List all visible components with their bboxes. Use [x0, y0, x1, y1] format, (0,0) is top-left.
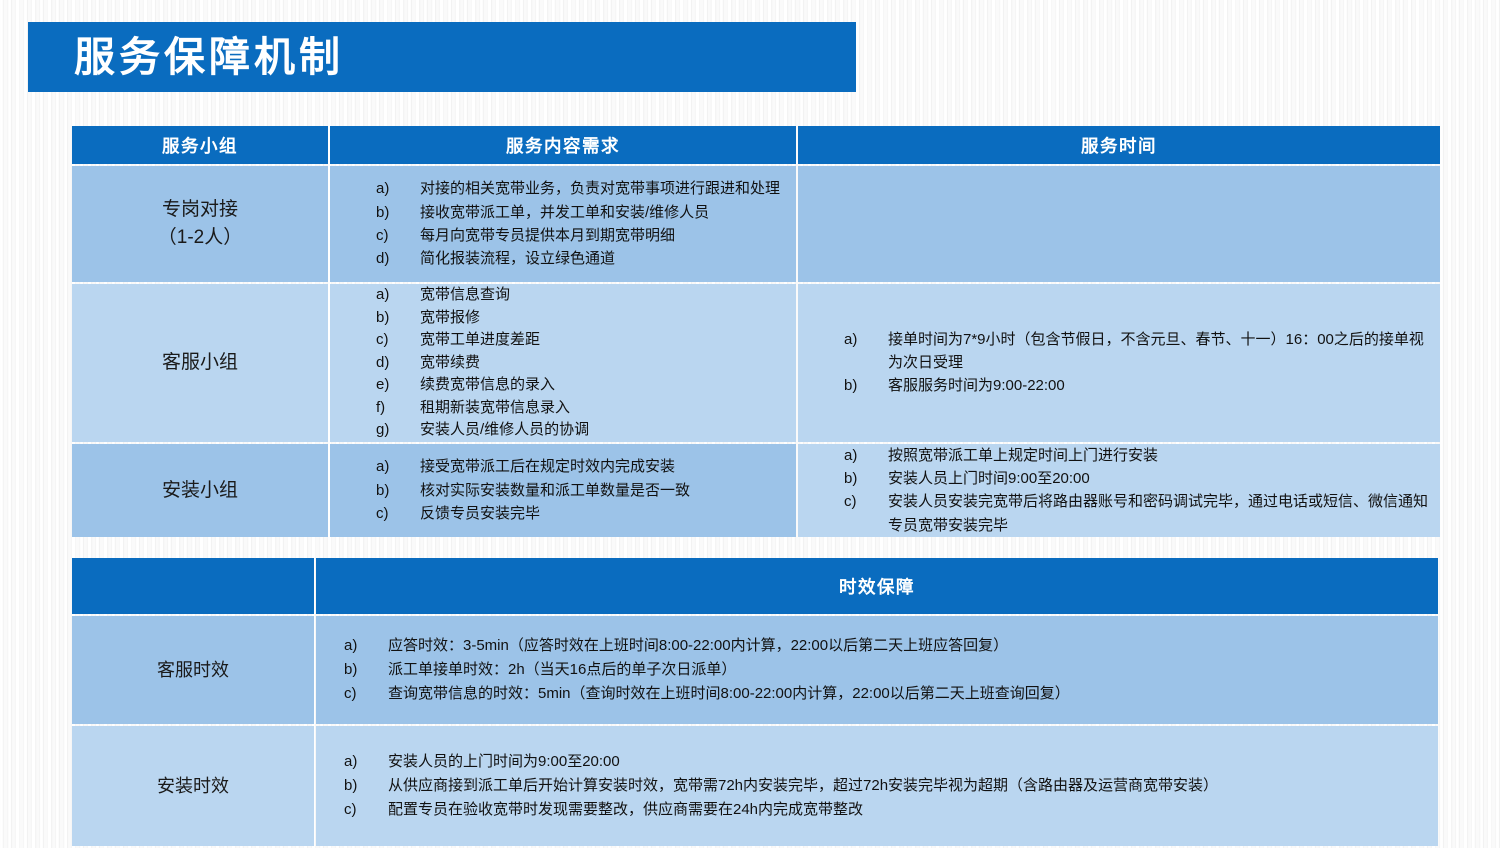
row-time-cell [798, 166, 1440, 282]
list-item: 宽带报修 [376, 307, 786, 330]
slide-root: 服务保障机制 服务小组 服务内容需求 服务时间 专岗对接 （1-2人） 对接的相… [0, 0, 1500, 844]
service-requirements-table: 服务小组 服务内容需求 服务时间 专岗对接 （1-2人） 对接的相关宽带业务，负… [70, 124, 1442, 539]
row-content-cell: 宽带信息查询 宽带报修 宽带工单进度差距 宽带续费 续费宽带信息的录入 租期新装… [330, 284, 796, 442]
list-item: 接受宽带派工后在规定时效内完成安装 [376, 455, 786, 478]
row-content-cell: 接受宽带派工后在规定时效内完成安装 核对实际安装数量和派工单数量是否一致 反馈专… [330, 444, 796, 538]
sla-list: 应答时效：3-5min（应答时效在上班时间8:00-22:00内计算，22:00… [316, 634, 1438, 707]
column-header-content: 服务内容需求 [330, 126, 796, 164]
row-time-cell: 按照宽带派工单上规定时间上门进行安装 安装人员上门时间9:00至20:00 安装… [798, 444, 1440, 538]
table-header-row: 时效保障 [72, 558, 1438, 614]
list-item: 客服服务时间为9:00-22:00 [844, 374, 1430, 397]
list-item: 简化报装流程，设立绿色通道 [376, 247, 786, 270]
row-content-cell: 安装人员的上门时间为9:00至20:00 从供应商接到派工单后开始计算安装时效，… [316, 726, 1438, 846]
table-row: 安装小组 接受宽带派工后在规定时效内完成安装 核对实际安装数量和派工单数量是否一… [72, 444, 1440, 538]
list-item: 每月向宽带专员提供本月到期宽带明细 [376, 224, 786, 247]
row-time-cell: 接单时间为7*9小时（包含节假日，不含元旦、春节、十一）16：00之后的接单视为… [798, 284, 1440, 442]
table-row: 专岗对接 （1-2人） 对接的相关宽带业务，负责对宽带事项进行跟进和处理 接收宽… [72, 166, 1440, 282]
list-item: 应答时效：3-5min（应答时效在上班时间8:00-22:00内计算，22:00… [344, 634, 1428, 658]
row-group-name: 安装小组 [72, 444, 328, 538]
list-item: 宽带续费 [376, 352, 786, 375]
table-row: 安装时效 安装人员的上门时间为9:00至20:00 从供应商接到派工单后开始计算… [72, 726, 1438, 846]
group-name-line2: （1-2人） [72, 224, 328, 252]
list-item: 安装人员的上门时间为9:00至20:00 [344, 750, 1428, 774]
row-group-name: 安装时效 [72, 726, 314, 846]
list-item: 宽带信息查询 [376, 284, 786, 307]
list-item: 查询宽带信息的时效：5min（查询时效在上班时间8:00-22:00内计算，22… [344, 682, 1428, 706]
row-content-cell: 对接的相关宽带业务，负责对宽带事项进行跟进和处理 接收宽带派工单，并发工单和安装… [330, 166, 796, 282]
slide-title-bar: 服务保障机制 [28, 22, 856, 92]
list-item: 租期新装宽带信息录入 [376, 397, 786, 420]
list-item: 对接的相关宽带业务，负责对宽带事项进行跟进和处理 [376, 177, 786, 200]
time-list: 接单时间为7*9小时（包含节假日，不含元旦、春节、十一）16：00之后的接单视为… [798, 328, 1440, 398]
row-group-name: 专岗对接 （1-2人） [72, 166, 328, 282]
content-list: 对接的相关宽带业务，负责对宽带事项进行跟进和处理 接收宽带派工单，并发工单和安装… [330, 177, 796, 271]
list-item: 安装人员上门时间9:00至20:00 [844, 467, 1430, 490]
list-item: 接收宽带派工单，并发工单和安装/维修人员 [376, 201, 786, 224]
column-header-sla: 时效保障 [316, 558, 1438, 614]
row-group-name: 客服时效 [72, 616, 314, 724]
list-item: 安装人员/维修人员的协调 [376, 419, 786, 442]
list-item: 配置专员在验收宽带时发现需要整改，供应商需要在24h内完成宽带整改 [344, 798, 1428, 822]
row-group-name: 客服小组 [72, 284, 328, 442]
list-item: 从供应商接到派工单后开始计算安装时效，宽带需72h内安装完毕，超过72h安装完毕… [344, 774, 1428, 798]
list-item: 反馈专员安装完毕 [376, 502, 786, 525]
column-header-time: 服务时间 [798, 126, 1440, 164]
list-item: 续费宽带信息的录入 [376, 374, 786, 397]
sla-list: 安装人员的上门时间为9:00至20:00 从供应商接到派工单后开始计算安装时效，… [316, 750, 1438, 823]
list-item: 宽带工单进度差距 [376, 329, 786, 352]
list-item: 安装人员安装完宽带后将路由器账号和密码调试完毕，通过电话或短信、微信通知专员宽带… [844, 490, 1430, 537]
row-content-cell: 应答时效：3-5min（应答时效在上班时间8:00-22:00内计算，22:00… [316, 616, 1438, 724]
time-list: 按照宽带派工单上规定时间上门进行安装 安装人员上门时间9:00至20:00 安装… [798, 444, 1440, 538]
content-list: 宽带信息查询 宽带报修 宽带工单进度差距 宽带续费 续费宽带信息的录入 租期新装… [330, 284, 796, 442]
list-item: 核对实际安装数量和派工单数量是否一致 [376, 479, 786, 502]
list-item: 派工单接单时效：2h（当天16点后的单子次日派单） [344, 658, 1428, 682]
list-item: 接单时间为7*9小时（包含节假日，不含元旦、春节、十一）16：00之后的接单视为… [844, 328, 1430, 375]
sla-table: 时效保障 客服时效 应答时效：3-5min（应答时效在上班时间8:00-22:0… [70, 556, 1440, 848]
list-item: 按照宽带派工单上规定时间上门进行安装 [844, 444, 1430, 467]
column-header-blank [72, 558, 314, 614]
table-row: 客服时效 应答时效：3-5min（应答时效在上班时间8:00-22:00内计算，… [72, 616, 1438, 724]
column-header-group: 服务小组 [72, 126, 328, 164]
content-list: 接受宽带派工后在规定时效内完成安装 核对实际安装数量和派工单数量是否一致 反馈专… [330, 455, 796, 525]
table-row: 客服小组 宽带信息查询 宽带报修 宽带工单进度差距 宽带续费 续费宽带信息的录入… [72, 284, 1440, 442]
group-name-line1: 专岗对接 [72, 196, 328, 224]
table-header-row: 服务小组 服务内容需求 服务时间 [72, 126, 1440, 164]
page-title: 服务保障机制 [74, 37, 344, 78]
